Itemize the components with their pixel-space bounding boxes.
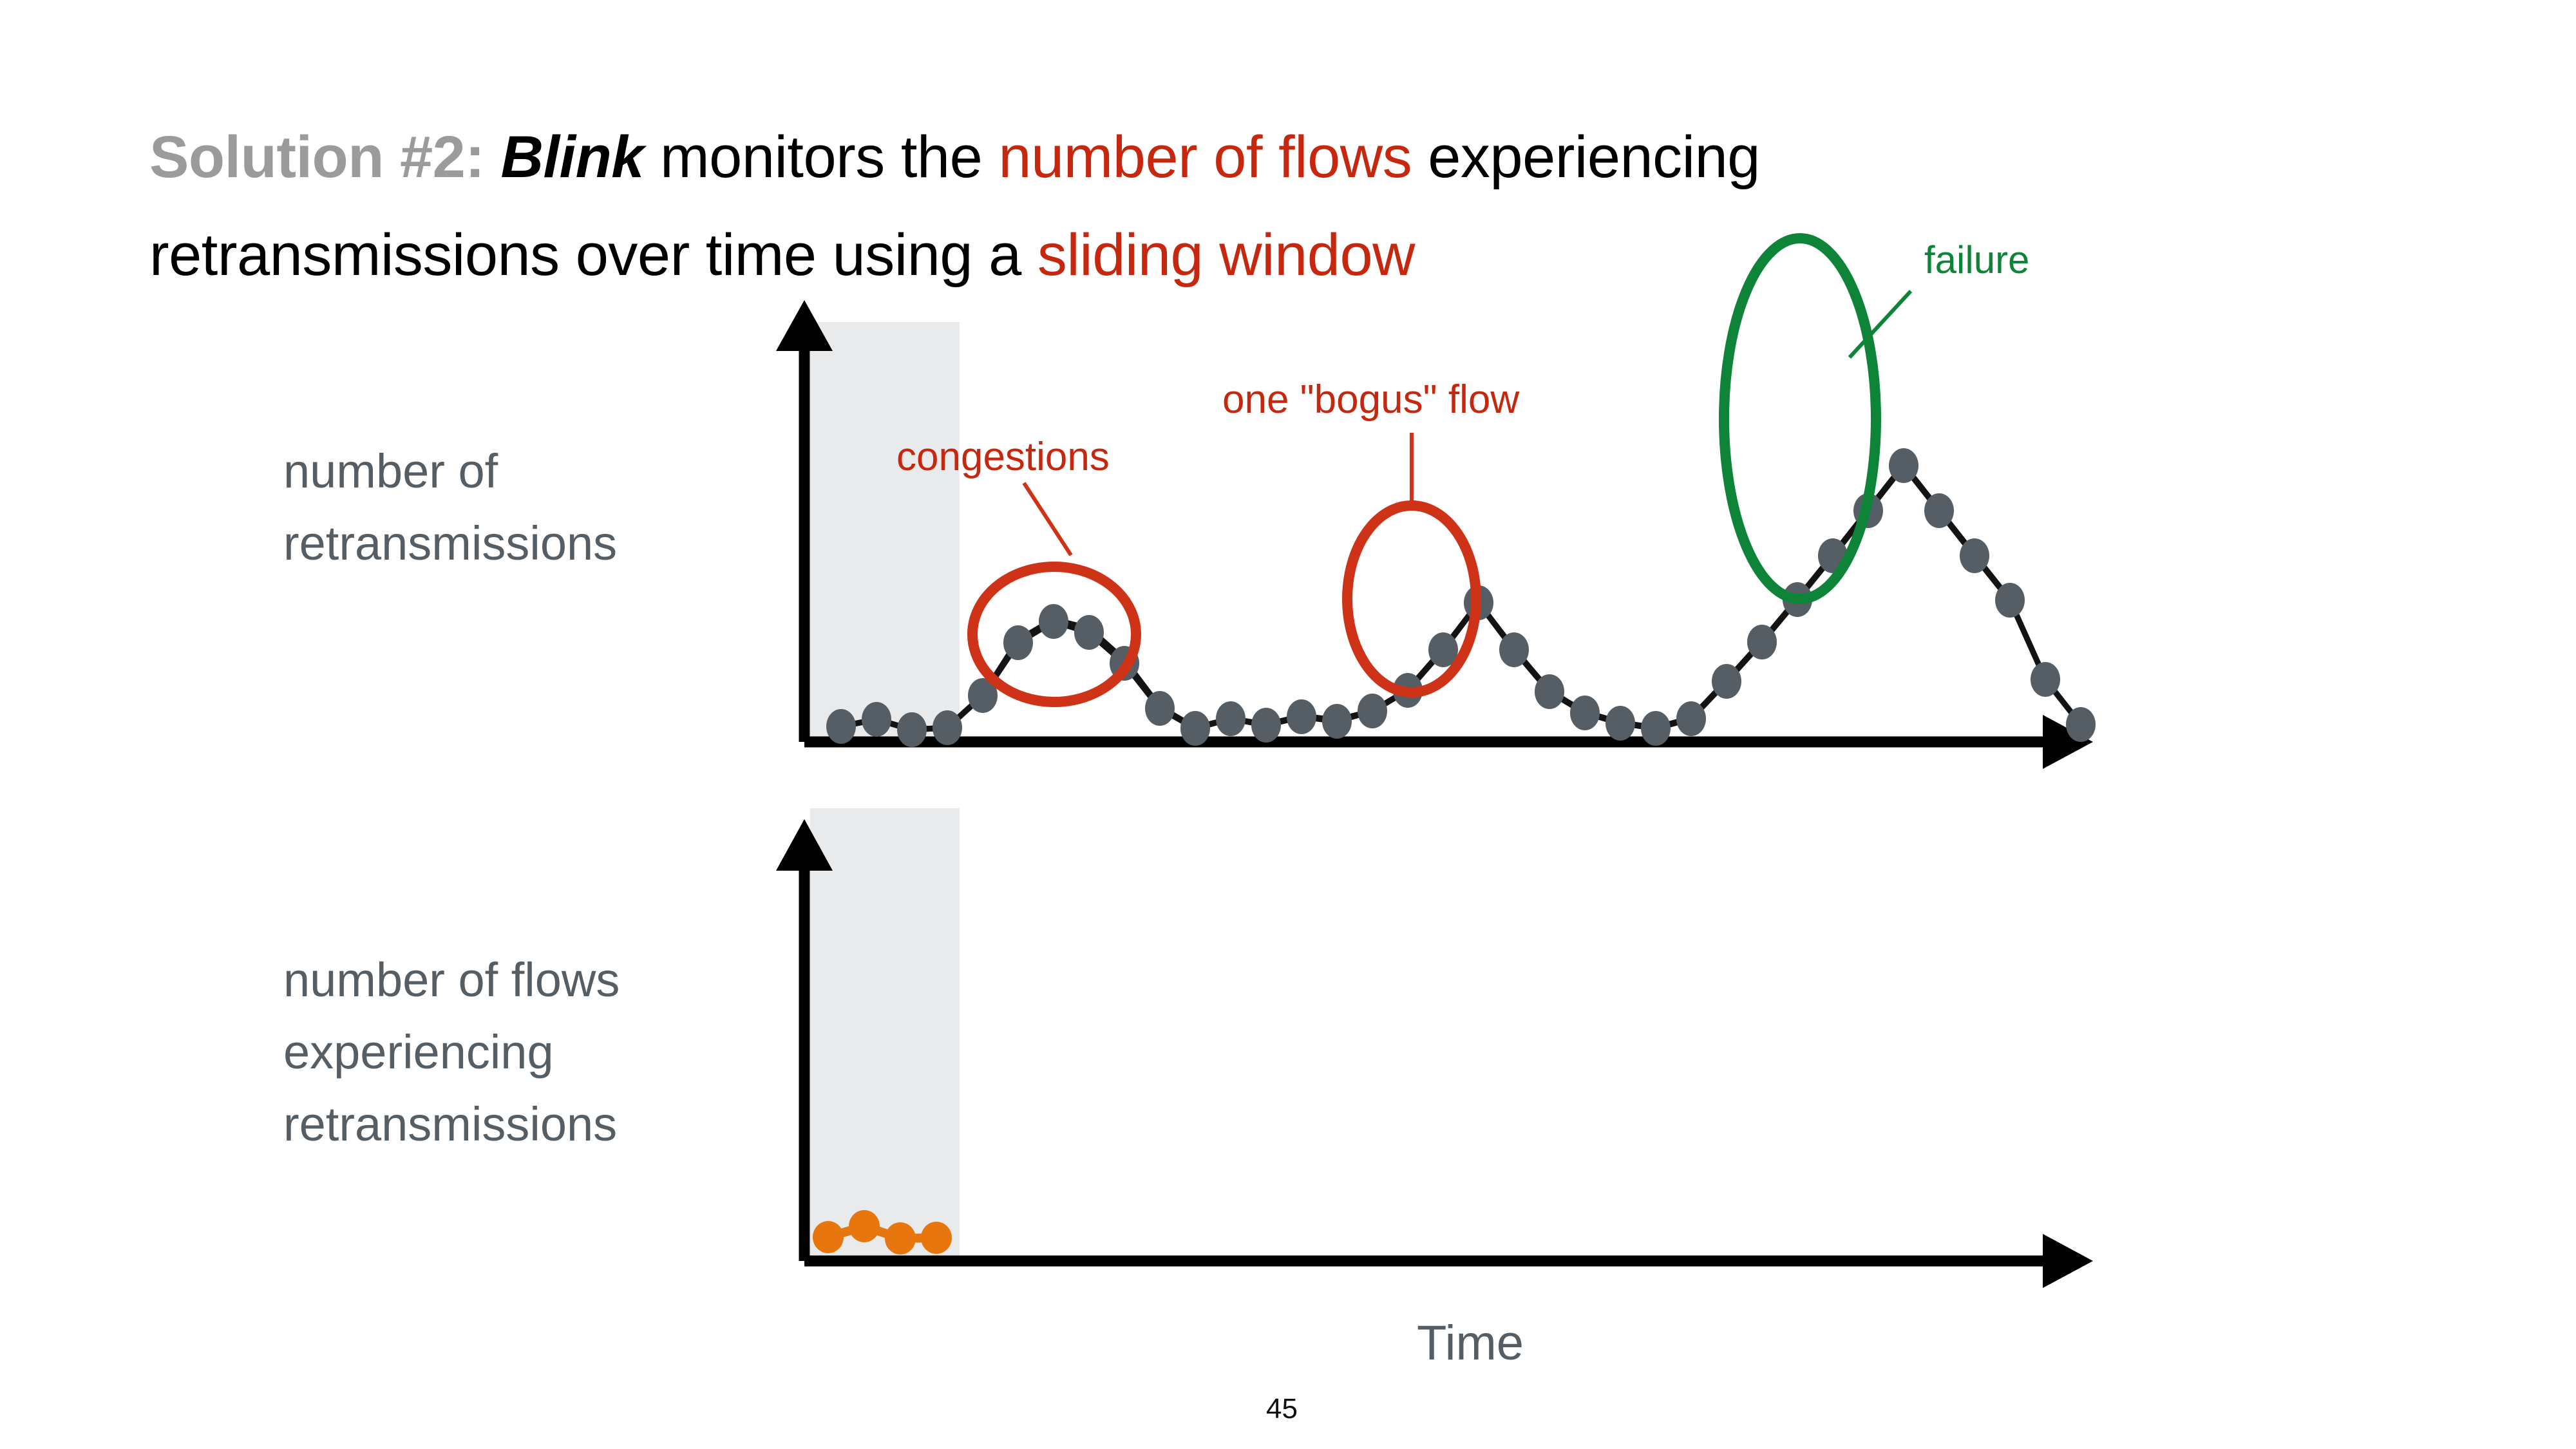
figure-container: number of retransmissions number of flow…: [0, 0, 2576, 1449]
annotation-congestions: congestions: [896, 434, 1110, 480]
highlight-ellipse-failure: [1724, 238, 1876, 599]
highlight-ellipse-bogus-flow: [1347, 506, 1476, 692]
retransmissions-markers: [826, 448, 2096, 747]
x-axis-label-time: Time: [1417, 1307, 1524, 1379]
charts-svg: [0, 0, 2576, 1449]
y-axis-label-bottom: number of flows experiencing retransmiss…: [283, 944, 620, 1160]
retransmissions-tail-markers: [1880, 707, 1910, 742]
leader-line-congestions: [1024, 483, 1071, 555]
slide-canvas: Solution #2: Blink monitors the number o…: [0, 0, 2576, 1449]
sliding-window-band-top: [810, 322, 960, 742]
annotation-bogus-flow: one "bogus" flow: [1222, 377, 1519, 423]
annotation-failure: failure: [1924, 237, 2029, 283]
slide-number: 45: [1266, 1393, 1298, 1425]
bottom-chart-axes: [776, 819, 2093, 1288]
y-axis-label-top: number of retransmissions: [283, 435, 617, 580]
sliding-window-band-bottom: [810, 808, 960, 1262]
